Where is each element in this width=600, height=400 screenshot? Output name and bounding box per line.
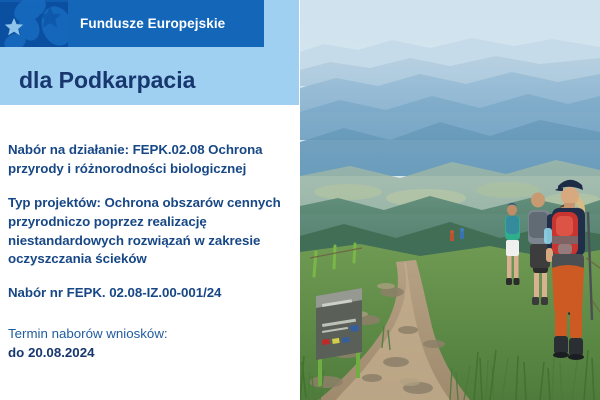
eu-funds-stars-logo-icon xyxy=(0,0,68,47)
deadline-value: do 20.08.2024 xyxy=(8,344,296,363)
program-name-band: Fundusze Europejskie xyxy=(68,0,264,47)
deadline-label: Termin naborów wniosków: xyxy=(8,325,296,344)
mountain-hikers-photo xyxy=(300,0,600,400)
eu-funds-logo-lockup: Fundusze Europejskie xyxy=(0,0,264,47)
left-information-panel: Fundusze Europejskie dla Podkarpacia Nab… xyxy=(0,0,299,400)
call-number-text: Nabór nr FEPK. 02.08-IZ.00-001/24 xyxy=(8,284,296,303)
project-type-text: Typ projektów: Ochrona obszarów cennych … xyxy=(8,194,296,270)
call-action-text: Nabór na działanie: FEPK.02.08 Ochrona p… xyxy=(8,141,296,179)
call-details-block: Nabór na działanie: FEPK.02.08 Ochrona p… xyxy=(8,141,296,363)
funding-call-poster: Fundusze Europejskie dla Podkarpacia Nab… xyxy=(0,0,600,400)
program-name-text: Fundusze Europejskie xyxy=(80,17,225,31)
region-heading: dla Podkarpacia xyxy=(19,68,195,93)
